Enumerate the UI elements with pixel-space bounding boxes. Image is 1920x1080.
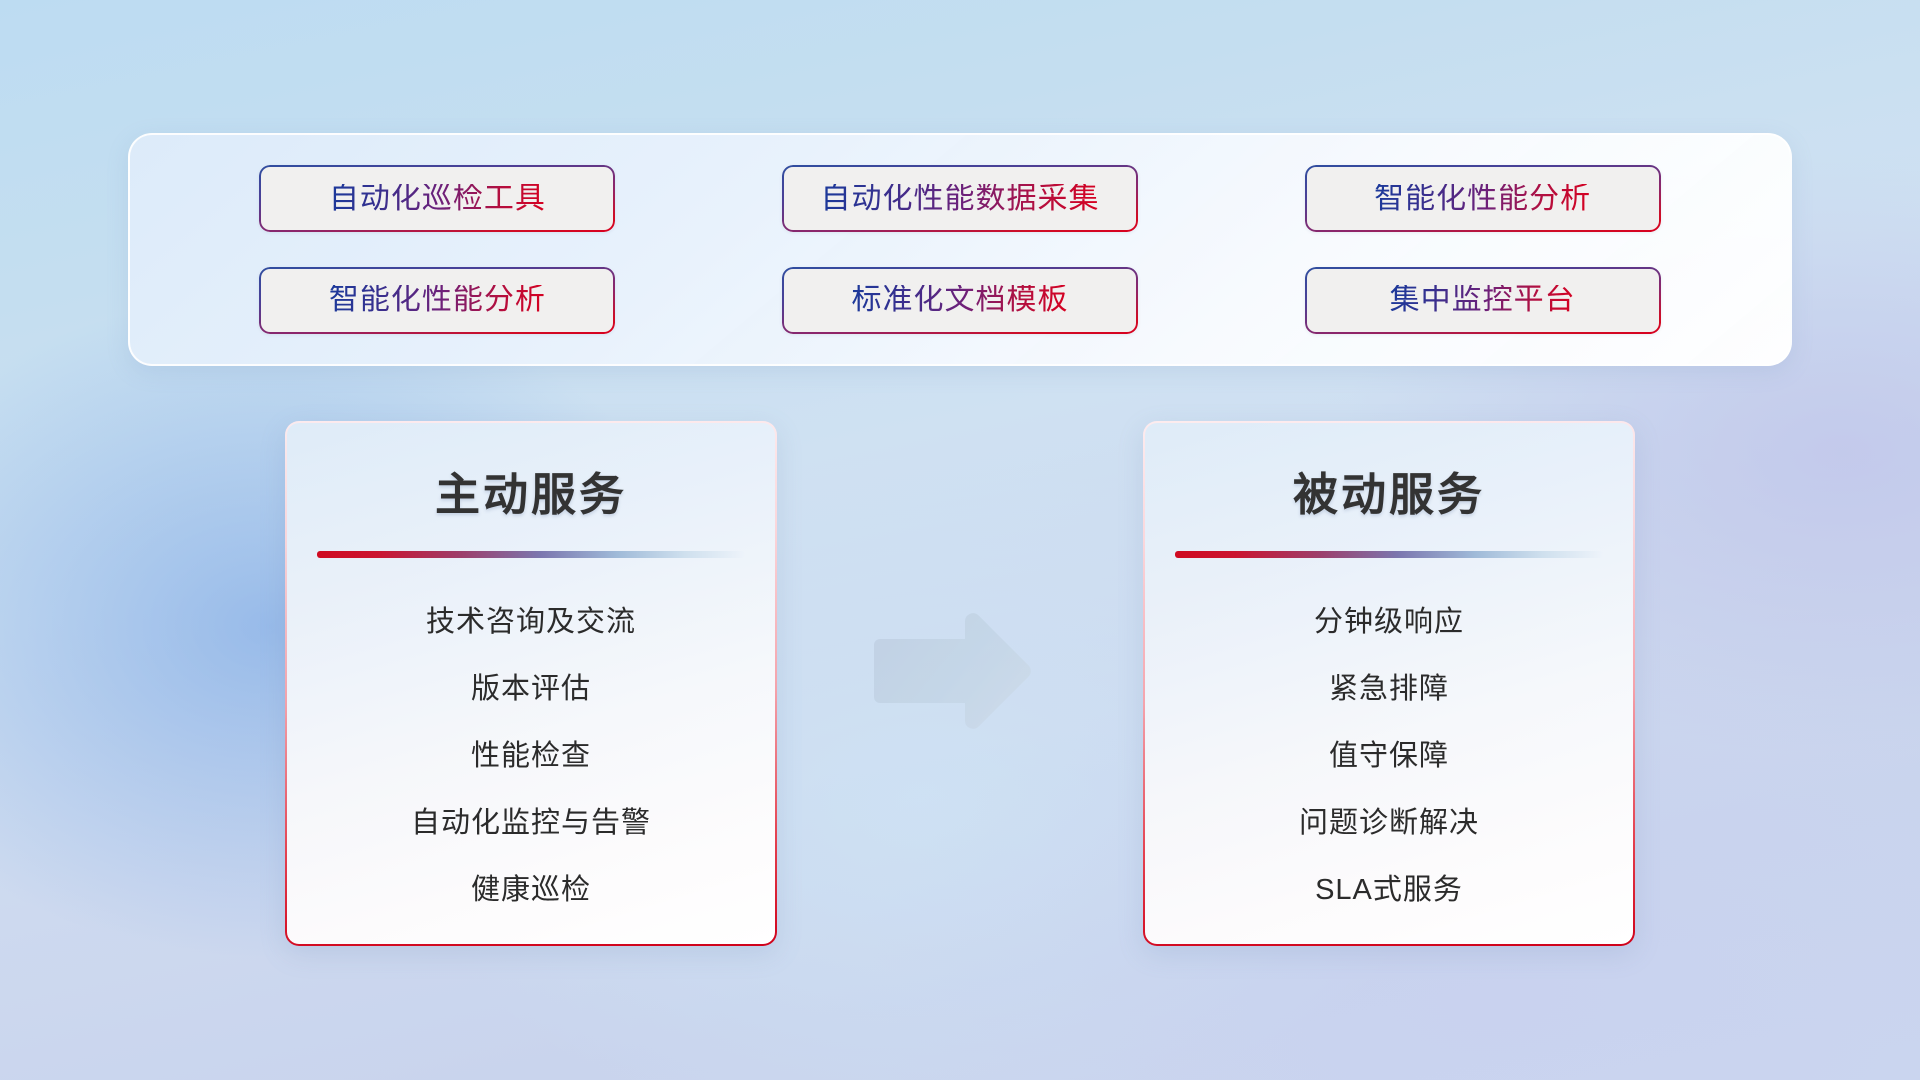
- capability-pill-4[interactable]: 智能化性能分析: [259, 267, 615, 334]
- capability-pill-label: 集中监控平台: [1390, 285, 1576, 315]
- slide-canvas: 自动化巡检工具 自动化性能数据采集 智能化性能分析 智能化性能分析 标准化文档模…: [0, 0, 1920, 1080]
- list-item: 健康巡检: [307, 857, 755, 924]
- passive-service-divider: [1175, 551, 1603, 558]
- capability-pill-label: 标准化文档模板: [851, 285, 1068, 315]
- capability-pill-2[interactable]: 自动化性能数据采集: [782, 165, 1138, 232]
- passive-service-card: 被动服务 分钟级响应 紧急排障 值守保障 问题诊断解决 SLA式服务: [1143, 421, 1635, 946]
- capability-pill-label: 自动化巡检工具: [329, 184, 546, 214]
- passive-service-title: 被动服务: [1145, 458, 1633, 523]
- capability-pill-6[interactable]: 集中监控平台: [1305, 267, 1661, 334]
- list-item: 性能检查: [307, 723, 755, 790]
- active-service-card: 主动服务 技术咨询及交流 版本评估 性能检查 自动化监控与告警 健康巡检: [285, 421, 777, 946]
- list-item: 值守保障: [1165, 723, 1613, 790]
- list-item: 紧急排障: [1165, 656, 1613, 723]
- capability-pill-label: 智能化性能分析: [1374, 184, 1591, 214]
- list-item: 版本评估: [307, 656, 755, 723]
- list-item: 技术咨询及交流: [307, 589, 755, 656]
- list-item: 自动化监控与告警: [307, 790, 755, 857]
- active-service-divider: [317, 551, 745, 558]
- capability-pill-1[interactable]: 自动化巡检工具: [259, 165, 615, 232]
- capability-grid: 自动化巡检工具 自动化性能数据采集 智能化性能分析 智能化性能分析 标准化文档模…: [130, 135, 1790, 364]
- arrow-right-icon: [868, 612, 1033, 732]
- list-item: 分钟级响应: [1165, 589, 1613, 656]
- passive-service-list: 分钟级响应 紧急排障 值守保障 问题诊断解决 SLA式服务: [1145, 589, 1633, 924]
- list-item: SLA式服务: [1165, 857, 1613, 924]
- capability-pill-5[interactable]: 标准化文档模板: [782, 267, 1138, 334]
- capability-pill-3[interactable]: 智能化性能分析: [1305, 165, 1661, 232]
- active-service-list: 技术咨询及交流 版本评估 性能检查 自动化监控与告警 健康巡检: [287, 589, 775, 924]
- capability-pill-label: 智能化性能分析: [329, 285, 546, 315]
- list-item: 问题诊断解决: [1165, 790, 1613, 857]
- active-service-title: 主动服务: [287, 458, 775, 523]
- capability-panel: 自动化巡检工具 自动化性能数据采集 智能化性能分析 智能化性能分析 标准化文档模…: [128, 133, 1792, 366]
- capability-pill-label: 自动化性能数据采集: [820, 184, 1099, 214]
